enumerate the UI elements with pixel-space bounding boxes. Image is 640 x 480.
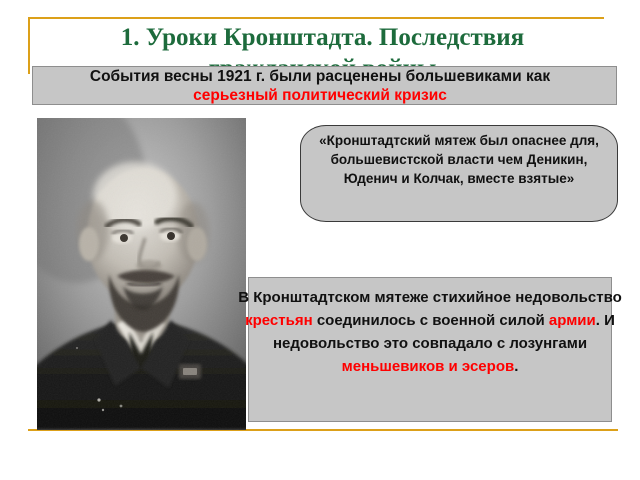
analysis-part-4: . [514, 358, 518, 375]
subtitle-highlight-text: серьезный политический кризис [193, 87, 447, 104]
analysis-part-1: В Кронштадтском мятеже стихийное недовол… [238, 289, 622, 306]
analysis-highlight-army: армии [549, 312, 596, 329]
subtitle-lead-text: События весны 1921 г. были расценены бол… [90, 68, 550, 85]
lenin-portrait-photo [37, 118, 246, 430]
subtitle-content: События весны 1921 г. были расценены бол… [6, 67, 634, 105]
page-title-line-1: 1. Уроки Кронштадта. Последствия [40, 22, 605, 53]
frame-left-line [28, 17, 30, 74]
frame-top-line [28, 17, 604, 19]
analysis-callout-text: В Кронштадтском мятеже стихийное недовол… [228, 286, 632, 378]
analysis-highlight-parties: меньшевиков и эсеров [342, 358, 515, 375]
quote-callout-text: «Кронштадтский мятеж был опаснее для, бо… [303, 131, 615, 188]
slide-canvas: 1. Уроки Кронштадта. Последствия граждан… [0, 0, 640, 480]
analysis-highlight-peasants: крестьян [245, 312, 313, 329]
analysis-part-2: соединилось с военной силой [313, 312, 549, 329]
